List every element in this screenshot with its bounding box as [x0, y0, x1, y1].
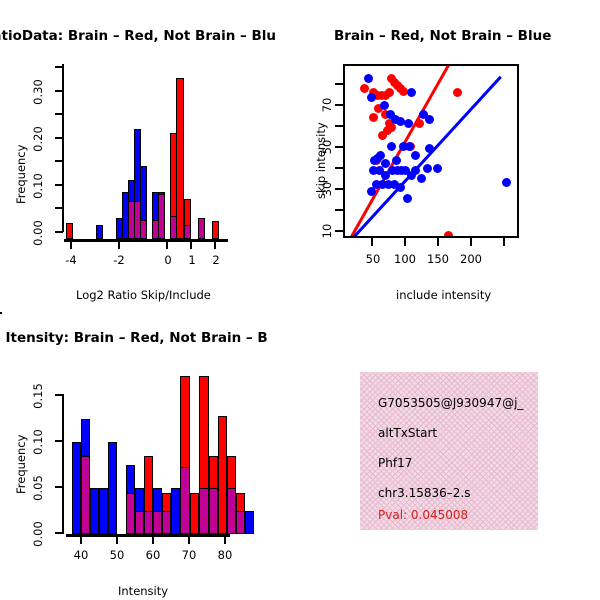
gene-info-pval: Pval: 0.045008: [378, 508, 468, 522]
scatter-ytick-label: 30: [320, 179, 334, 199]
scatter-point-brain: [444, 231, 453, 238]
ratio-histogram-xtick: [70, 241, 72, 249]
scatter-point-not-brain: [417, 174, 426, 183]
intensity-histogram-ytick: [55, 532, 63, 534]
bar-blue: [81, 419, 90, 456]
scatter-ytick: [335, 104, 343, 106]
intensity-histogram-yaxis: [62, 394, 64, 534]
bar-blue: [90, 488, 99, 534]
bar-overlap: [184, 225, 191, 239]
ratio-histogram-ytick: [55, 113, 63, 115]
intensity-histogram-xtick-label: 50: [105, 548, 129, 562]
ratio-histogram-ytick: [55, 207, 63, 209]
ratio-histogram-xtick: [166, 241, 168, 249]
ratio-histogram-ytick-label: 0.30: [31, 76, 45, 108]
ratio-histogram-xtick-label: -4: [60, 253, 82, 267]
intensity-histogram-xtick-label: 60: [141, 548, 165, 562]
ratio-histogram-title: RatioData: Brain – Red, Not Brain – Blu: [0, 28, 276, 44]
scatter-point-not-brain: [364, 74, 373, 83]
scatter-ytick: [335, 209, 343, 211]
scatter-xtick: [437, 238, 439, 246]
scatter-point-not-brain: [392, 156, 401, 165]
scatter-point-not-brain: [403, 194, 412, 203]
scatter-point-brain: [360, 84, 369, 93]
gene-info-symbol: Phf17: [378, 456, 412, 470]
intensity-histogram-xtick: [224, 536, 226, 544]
bar-overlap: [209, 488, 218, 534]
bar-overlap: [236, 511, 245, 534]
scatter-point-brain: [385, 88, 394, 97]
ratio-histogram-ytick: [55, 66, 63, 68]
bar-overlap: [126, 493, 135, 534]
panel-scatter: Brain – Red, Not Brain – Blue skip inten…: [300, 14, 600, 309]
scatter-point-not-brain: [396, 183, 405, 192]
bar-overlap: [180, 467, 190, 534]
scatter-point-not-brain: [380, 101, 389, 110]
panel-intensity-histogram: ne Itensity: Brain – Red, Not Brain – B …: [0, 312, 300, 600]
bar-red: [66, 223, 73, 239]
scatter-ytick: [335, 188, 343, 190]
scatter-point-not-brain: [433, 164, 442, 173]
scatter-ytick-label: 70: [320, 95, 334, 115]
bar-overlap: [144, 511, 153, 534]
bar-overlap: [135, 511, 144, 534]
ratio-histogram-xtick: [118, 241, 120, 249]
gene-info-id: G7053505@J930947@j_: [378, 396, 523, 410]
intensity-histogram-ytick: [55, 440, 63, 442]
scatter-point-not-brain: [411, 151, 420, 160]
scatter-point-brain: [369, 113, 378, 122]
scatter-point-brain: [453, 88, 462, 97]
bar-overlap: [0, 312, 2, 314]
bar-red: [212, 221, 219, 239]
bar-blue: [96, 225, 103, 239]
scatter-ytick-label: 50: [320, 137, 334, 157]
intensity-histogram-ylabel: Frequency: [14, 435, 28, 494]
scatter-point-not-brain: [425, 144, 434, 153]
scatter-plot-frame: [343, 64, 519, 238]
scatter-point-not-brain: [425, 115, 434, 124]
intensity-histogram-ytick: [55, 486, 63, 488]
scatter-ytick: [335, 230, 343, 232]
bar-overlap: [162, 511, 171, 534]
ratio-histogram-ytick-label: 0.00: [31, 217, 45, 249]
intensity-histogram-ytick-label: 0.10: [31, 426, 45, 458]
ratio-histogram-ytick-label: 0.20: [31, 123, 45, 155]
bar-overlap: [153, 511, 162, 534]
intensity-histogram-xtick: [152, 536, 154, 544]
bar-blue: [108, 442, 117, 534]
ratio-histogram-ytick: [55, 90, 63, 92]
bar-blue: [72, 442, 81, 534]
intensity-histogram-xtick: [188, 536, 190, 544]
intensity-histogram-xtick-label: 80: [213, 548, 237, 562]
bar-overlap: [81, 456, 90, 534]
ratio-histogram-xtick-label: 1: [181, 253, 203, 267]
bar-overlap: [227, 488, 236, 534]
bar-red: [176, 78, 184, 239]
bar-overlap: [199, 488, 209, 534]
panel-ratio-histogram: RatioData: Brain – Red, Not Brain – Blu …: [0, 14, 300, 309]
bar-overlap: [158, 194, 165, 239]
scatter-xtick: [404, 238, 406, 246]
scatter-ytick: [335, 167, 343, 169]
bar-red: [190, 493, 199, 534]
intensity-histogram-xtick-label: 70: [177, 548, 201, 562]
scatter-xtick-label: 50: [360, 252, 386, 266]
scatter-ytick: [335, 146, 343, 148]
scatter-point-not-brain: [367, 93, 376, 102]
scatter-xtick: [371, 238, 373, 246]
ratio-histogram-ytick: [55, 160, 63, 162]
ratio-histogram-ytick: [55, 184, 63, 186]
ratio-histogram-xaxis: [64, 239, 228, 242]
ratio-histogram-ytick: [55, 231, 63, 233]
intensity-histogram-xlabel: Intensity: [118, 584, 168, 598]
gene-info-box: G7053505@J930947@j_ altTxStart Phf17 chr…: [360, 372, 538, 530]
scatter-xtick: [503, 238, 505, 246]
bar-blue: [171, 488, 180, 534]
intensity-histogram-ytick-label: 0.05: [31, 472, 45, 504]
ratio-histogram-xtick: [214, 241, 216, 249]
ratio-histogram-xtick-label: 2: [205, 253, 227, 267]
scatter-point-not-brain: [405, 142, 414, 151]
gene-info-event: altTxStart: [378, 426, 437, 440]
ratio-histogram-ylabel: Frequency: [14, 145, 28, 204]
bar-overlap: [198, 218, 205, 239]
intensity-histogram-ytick: [55, 394, 63, 396]
scatter-ytick-label: 10: [320, 221, 334, 241]
scatter-xtick-label: 100: [390, 252, 420, 266]
scatter-xtick: [470, 238, 472, 246]
intensity-histogram-ytick-label: 0.15: [31, 380, 45, 412]
scatter-point-not-brain: [502, 178, 511, 187]
intensity-histogram-ytick-label: 0.00: [31, 518, 45, 550]
scatter-ytick: [335, 83, 343, 85]
intensity-histogram-xtick-label: 40: [69, 548, 93, 562]
scatter-xtick-label: 200: [456, 252, 486, 266]
scatter-point-brain: [378, 131, 387, 140]
bar-blue: [99, 488, 108, 534]
bar-overlap: [140, 220, 147, 239]
scatter-point-brain: [387, 123, 396, 132]
ratio-histogram-xtick-label: -2: [108, 253, 130, 267]
scatter-xlabel: include intensity: [396, 288, 491, 302]
scatter-point-not-brain: [387, 142, 396, 151]
gene-info-locus: chr3.15836–2.s: [378, 486, 470, 500]
intensity-histogram-xaxis: [66, 534, 230, 537]
scatter-point-not-brain: [423, 164, 432, 173]
bar-red: [218, 416, 227, 534]
ratio-histogram-ytick-label: 0.10: [31, 170, 45, 202]
scatter-point-brain: [415, 119, 424, 128]
ratio-histogram-xlabel: Log2 Ratio Skip/Include: [76, 288, 211, 302]
intensity-histogram-xtick: [80, 536, 82, 544]
ratio-histogram-xtick: [190, 241, 192, 249]
scatter-point-not-brain: [404, 119, 413, 128]
ratio-histogram-ytick: [55, 137, 63, 139]
ratio-histogram-xtick-label: 0: [157, 253, 179, 267]
bar-blue: [245, 511, 254, 534]
scatter-point-not-brain: [407, 88, 416, 97]
intensity-histogram-title: ne Itensity: Brain – Red, Not Brain – B: [0, 330, 268, 346]
scatter-ytick: [335, 125, 343, 127]
scatter-title: Brain – Red, Not Brain – Blue: [334, 28, 551, 44]
scatter-xtick-label: 150: [423, 252, 453, 266]
intensity-histogram-xtick: [116, 536, 118, 544]
